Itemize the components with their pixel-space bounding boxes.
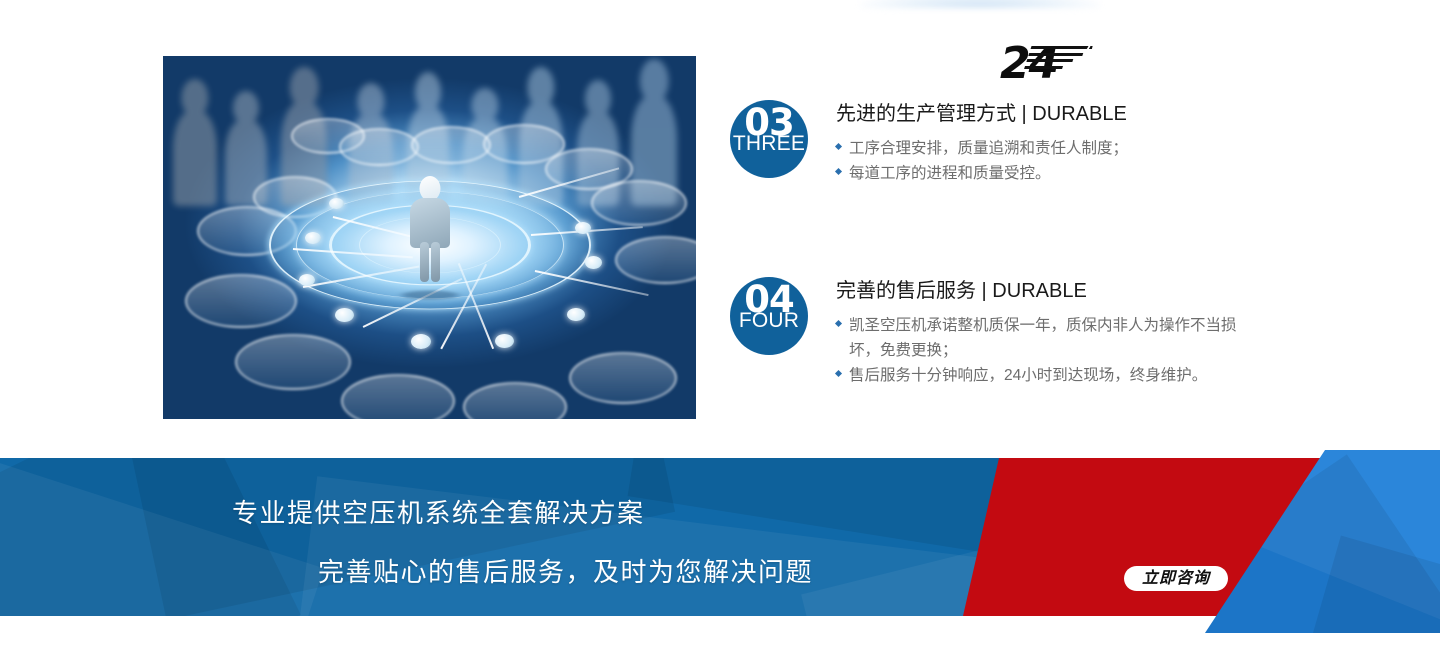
slogan-line-2: 完善贴心的售后服务，及时为您解决问题 [318, 552, 813, 589]
page-root: 03 THREE 先进的生产管理方式 | DURABLE 工序合理安排，质量追溯… [0, 0, 1440, 663]
feature-badge-04: 04 FOUR [730, 277, 808, 355]
badge-word: FOUR [739, 310, 799, 331]
bullet-text: 售后服务十分钟响应，24小时到达现场，终身维护。 [849, 367, 1207, 384]
diamond-bullet-icon [835, 168, 842, 175]
badge-word: THREE [733, 133, 805, 154]
banner-slogans: 专业提供空压机系统全套解决方案 完善贴心的售后服务，及时为您解决问题 [0, 458, 1000, 616]
diamond-bullet-icon [835, 143, 842, 150]
feature-badge-03: 03 THREE [730, 100, 808, 178]
hotline-block: 24 小时服务热线: 400-881-8971 [1000, 38, 1300, 148]
consult-now-label: 立即咨询 [1142, 571, 1210, 587]
diamond-bullet-icon [835, 320, 842, 327]
hotline-number: 400-881-8971 [1084, 58, 1324, 93]
list-item: 售后服务十分钟响应，24小时到达现场，终身维护。 [836, 363, 1244, 388]
top-cutoff-glow [860, 0, 1100, 8]
list-item: 每道工序的进程和质量受控。 [836, 161, 1128, 186]
central-figure [410, 176, 450, 282]
bottom-cta-banner: 专业提供空压机系统全套解决方案 完善贴心的售后服务，及时为您解决问题 [0, 458, 1440, 663]
list-item: 凯圣空压机承诺整机质保一年，质保内非人为操作不当损坏，免费更换； [836, 313, 1244, 363]
diamond-bullet-icon [835, 370, 842, 377]
speed-lines-icon [1020, 46, 1093, 80]
feature-bullet-list: 凯圣空压机承诺整机质保一年，质保内非人为操作不当损坏，免费更换； 售后服务十分钟… [836, 313, 1244, 388]
consult-now-button[interactable]: 立即咨询 [1124, 566, 1228, 591]
feature-image [163, 56, 696, 419]
feature-title: 完善的售后服务 | DURABLE [836, 279, 1244, 304]
slogan-line-1: 专业提供空压机系统全套解决方案 [232, 493, 645, 530]
hotline-label: 小时服务热线: [1084, 38, 1183, 59]
bullet-text: 每道工序的进程和质量受控。 [849, 165, 1051, 182]
bullet-text: 凯圣空压机承诺整机质保一年，质保内非人为操作不当损坏，免费更换； [849, 317, 1237, 359]
feature-block-04: 04 FOUR 完善的售后服务 | DURABLE 凯圣空压机承诺整机质保一年，… [730, 277, 1244, 388]
